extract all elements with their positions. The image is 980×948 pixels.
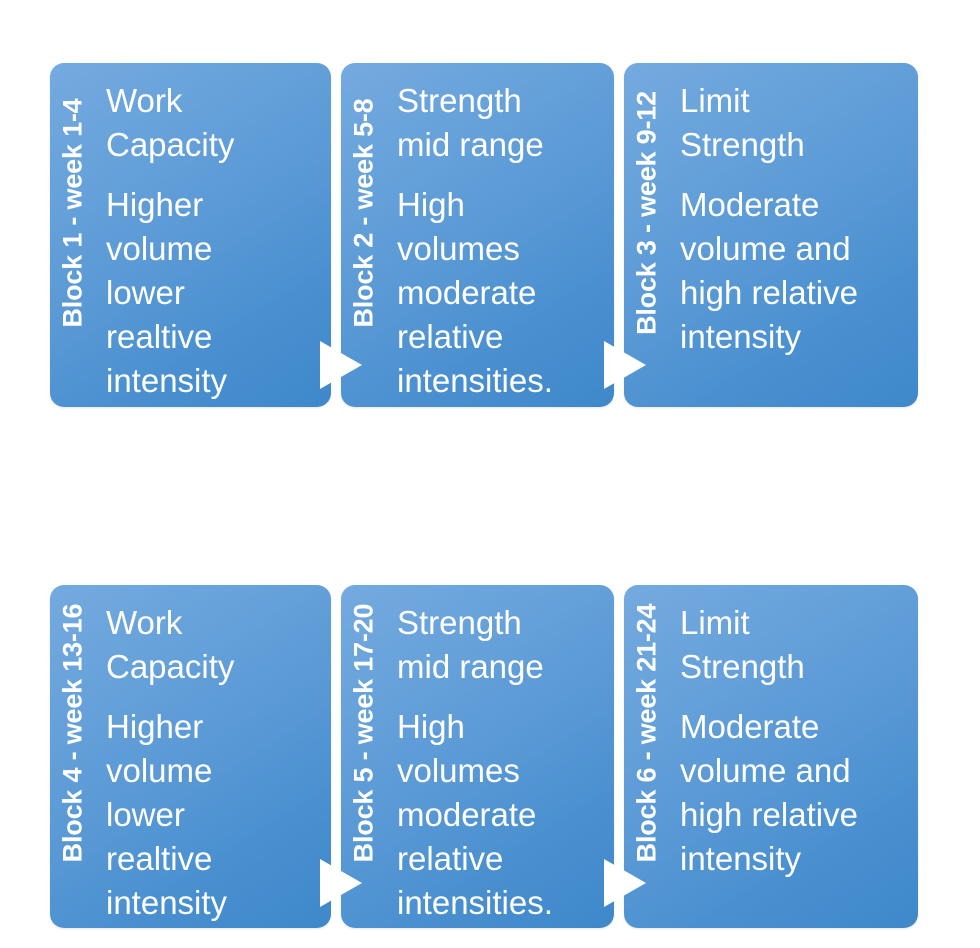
block-label-column: Block 1 - week 1-4 bbox=[50, 63, 96, 407]
block-card-6[interactable]: Block 6 - week 21-24 Limit Strength Mode… bbox=[624, 585, 918, 928]
block-body: Strength mid range High volumes moderate… bbox=[387, 585, 614, 928]
block-heading: Strength mid range bbox=[397, 79, 606, 167]
right-chevron-arrow-icon bbox=[316, 857, 364, 909]
block-heading: Limit Strength bbox=[680, 79, 910, 167]
block-label: Block 6 - week 21-24 bbox=[634, 603, 661, 862]
block-heading: Work Capacity bbox=[106, 601, 323, 689]
block-description: Higher volume lower realtive intensity bbox=[106, 705, 323, 925]
block-card-3[interactable]: Block 3 - week 9-12 Limit Strength Moder… bbox=[624, 63, 918, 407]
block-body: Work Capacity Higher volume lower realti… bbox=[96, 63, 331, 407]
block-label-column: Block 4 - week 13-16 bbox=[50, 585, 96, 928]
block-row-1: Block 1 - week 1-4 Work Capacity Higher … bbox=[0, 63, 980, 407]
right-chevron-arrow-icon bbox=[600, 339, 648, 391]
block-description: High volumes moderate relative intensiti… bbox=[397, 705, 606, 925]
right-chevron-arrow-icon bbox=[600, 857, 648, 909]
block-card-4[interactable]: Block 4 - week 13-16 Work Capacity Highe… bbox=[50, 585, 331, 928]
block-card-2[interactable]: Block 2 - week 5-8 Strength mid range Hi… bbox=[341, 63, 614, 407]
block-label: Block 1 - week 1-4 bbox=[60, 98, 87, 327]
periodization-diagram: Block 1 - week 1-4 Work Capacity Higher … bbox=[0, 0, 980, 948]
block-label: Block 2 - week 5-8 bbox=[351, 98, 378, 327]
block-description: Higher volume lower realtive intensity bbox=[106, 183, 323, 403]
block-label: Block 3 - week 9-12 bbox=[634, 91, 661, 335]
block-card-1[interactable]: Block 1 - week 1-4 Work Capacity Higher … bbox=[50, 63, 331, 407]
block-heading: Limit Strength bbox=[680, 601, 910, 689]
block-description: High volumes moderate relative intensiti… bbox=[397, 183, 606, 403]
block-body: Strength mid range High volumes moderate… bbox=[387, 63, 614, 407]
block-description: Moderate volume and high relative intens… bbox=[680, 183, 910, 359]
block-body: Limit Strength Moderate volume and high … bbox=[670, 63, 918, 407]
block-card-5[interactable]: Block 5 - week 17-20 Strength mid range … bbox=[341, 585, 614, 928]
block-heading: Work Capacity bbox=[106, 79, 323, 167]
block-description: Moderate volume and high relative intens… bbox=[680, 705, 910, 881]
block-body: Work Capacity Higher volume lower realti… bbox=[96, 585, 331, 928]
block-row-2: Block 4 - week 13-16 Work Capacity Highe… bbox=[0, 585, 980, 928]
block-label: Block 5 - week 17-20 bbox=[351, 603, 378, 862]
block-body: Limit Strength Moderate volume and high … bbox=[670, 585, 918, 928]
block-label: Block 4 - week 13-16 bbox=[60, 603, 87, 862]
right-chevron-arrow-icon bbox=[316, 339, 364, 391]
block-heading: Strength mid range bbox=[397, 601, 606, 689]
